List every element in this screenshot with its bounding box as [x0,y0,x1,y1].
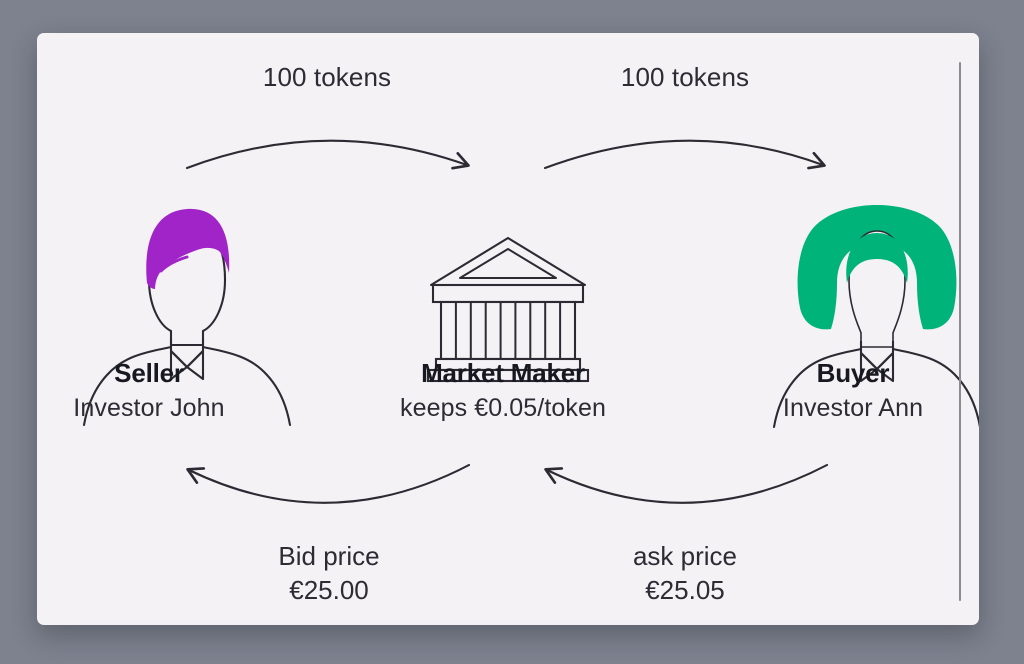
diagram-canvas [37,33,979,625]
flow-label-tokens-seller-to-market-maker: 100 tokens [263,62,391,93]
node-subtitle-buyer: Investor Ann [783,393,923,424]
node-title-market-maker: Market Maker [400,358,606,390]
screenshot-stage: 100 tokens 100 tokens Seller Investor Jo… [0,0,1024,664]
node-title-seller: Seller [73,358,224,390]
node-title-buyer: Buyer [783,358,923,390]
flow-label-tokens-market-maker-to-buyer: 100 tokens [621,62,749,93]
node-subtitle-seller: Investor John [73,393,224,424]
arrow-bid-market-maker-to-seller [189,465,469,503]
ask-price-amount: €25.05 [633,575,737,607]
arrow-tokens-seller-to-market-maker [187,141,467,168]
node-caption-buyer: Buyer Investor Ann [783,358,923,424]
node-caption-market-maker: Market Maker keeps €0.05/token [400,358,606,424]
bank-colonnade [441,302,575,359]
diagram-card: 100 tokens 100 tokens Seller Investor Jo… [37,33,979,625]
arrow-tokens-market-maker-to-buyer [545,141,823,168]
bid-price-title: Bid price [278,541,379,573]
node-caption-seller: Seller Investor John [73,358,224,424]
price-label-bid: Bid price €25.00 [278,541,379,606]
arrow-ask-buyer-to-market-maker [547,465,827,503]
ask-price-title: ask price [633,541,737,573]
vertical-scrollbar[interactable] [959,62,961,601]
bid-price-amount: €25.00 [278,575,379,607]
bank-architrave [433,285,583,302]
price-label-ask: ask price €25.05 [633,541,737,606]
node-subtitle-market-maker: keeps €0.05/token [400,393,606,424]
